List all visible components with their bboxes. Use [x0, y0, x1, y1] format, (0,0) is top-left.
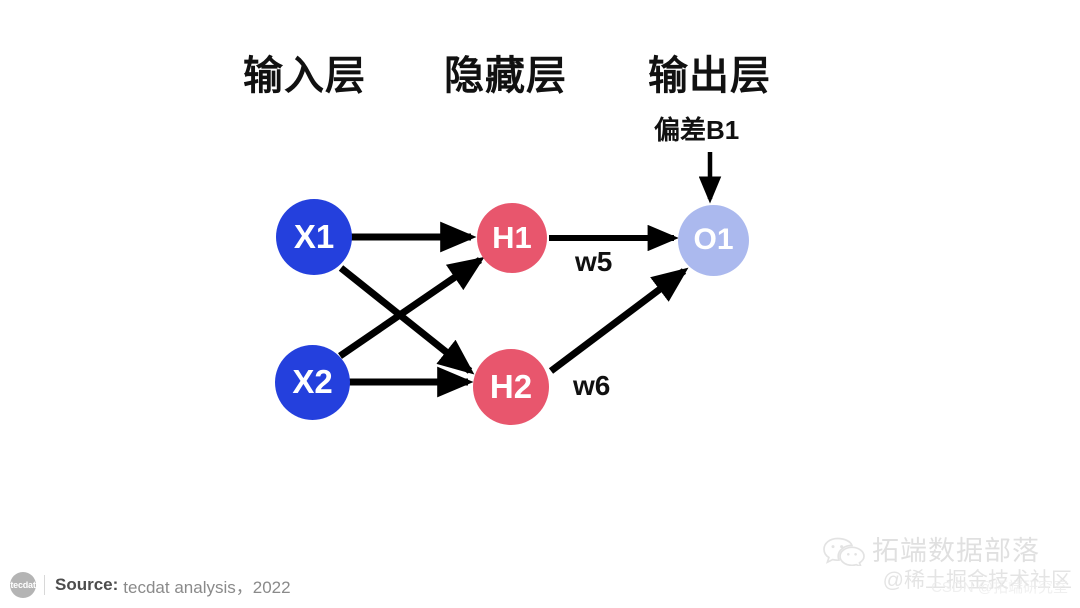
- weight-label-w5: w5: [575, 248, 612, 276]
- node-h2[interactable]: H2: [473, 349, 549, 425]
- node-x1-label: X1: [294, 220, 334, 253]
- footer-source-text: tecdat analysis，2022: [123, 573, 290, 598]
- edge-layer: [0, 0, 1080, 608]
- node-o1-label: O1: [693, 225, 733, 255]
- footer: tecdat Source: tecdat analysis，2022: [10, 571, 291, 599]
- footer-divider: [44, 575, 45, 595]
- diagram-canvas: 输入层 隐藏层 输出层 偏差B1 X1 X2: [0, 0, 1080, 608]
- node-x2[interactable]: X2: [275, 345, 350, 420]
- node-o1[interactable]: O1: [678, 205, 749, 276]
- node-h2-label: H2: [490, 370, 532, 403]
- node-x1[interactable]: X1: [276, 199, 352, 275]
- node-x2-label: X2: [292, 365, 332, 398]
- footer-source-label: Source:: [55, 575, 118, 595]
- node-h1-label: H1: [492, 222, 532, 253]
- tecdat-logo-icon: tecdat: [10, 572, 36, 598]
- edge-h2-o1: [551, 271, 684, 371]
- node-h1[interactable]: H1: [477, 203, 547, 273]
- edge-x2-h1: [340, 260, 480, 356]
- weight-label-w6: w6: [573, 372, 610, 400]
